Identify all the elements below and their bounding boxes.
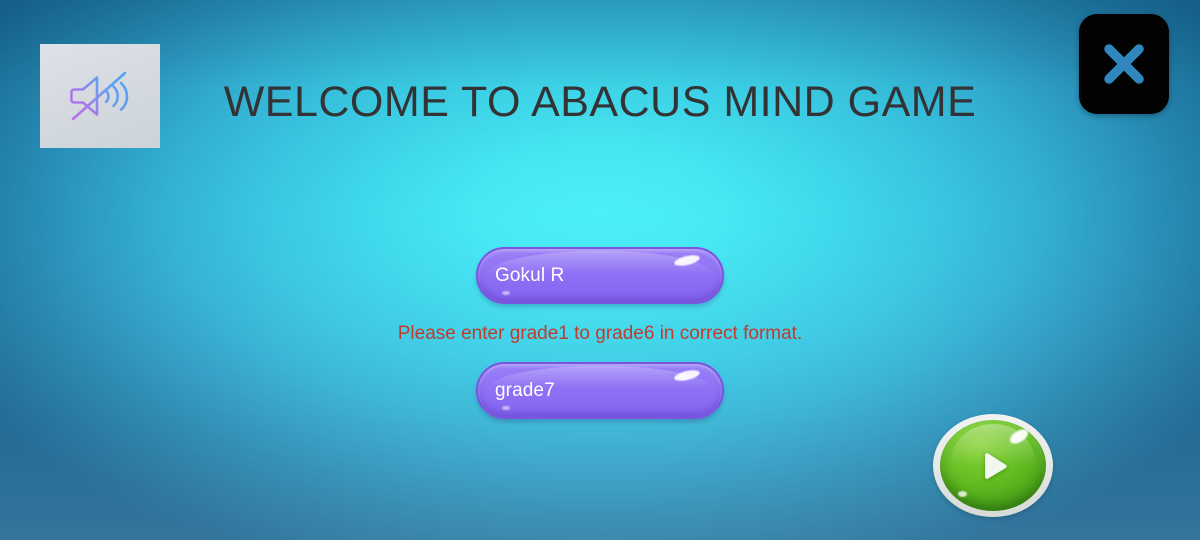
name-input-gloss <box>673 253 700 268</box>
name-input[interactable]: Gokul R <box>476 247 724 304</box>
grade-input[interactable]: grade7 <box>476 362 724 419</box>
grade-input-gloss <box>673 368 700 383</box>
name-input-value: Gokul R <box>478 265 564 287</box>
form-stack: Gokul R Please enter grade1 to grade6 in… <box>320 247 880 419</box>
error-message: Please enter grade1 to grade6 in correct… <box>398 322 803 345</box>
play-button-specular-low <box>958 491 967 497</box>
grade-input-value: grade7 <box>478 380 555 402</box>
play-button[interactable] <box>933 414 1053 517</box>
play-triangle-icon <box>975 446 1015 486</box>
game-screen: WELCOME TO ABACUS MIND GAME Gokul R Plea… <box>0 0 1200 540</box>
grade-input-gloss-small <box>502 406 510 410</box>
page-title: WELCOME TO ABACUS MIND GAME <box>0 76 1200 128</box>
name-input-gloss-small <box>502 291 510 295</box>
